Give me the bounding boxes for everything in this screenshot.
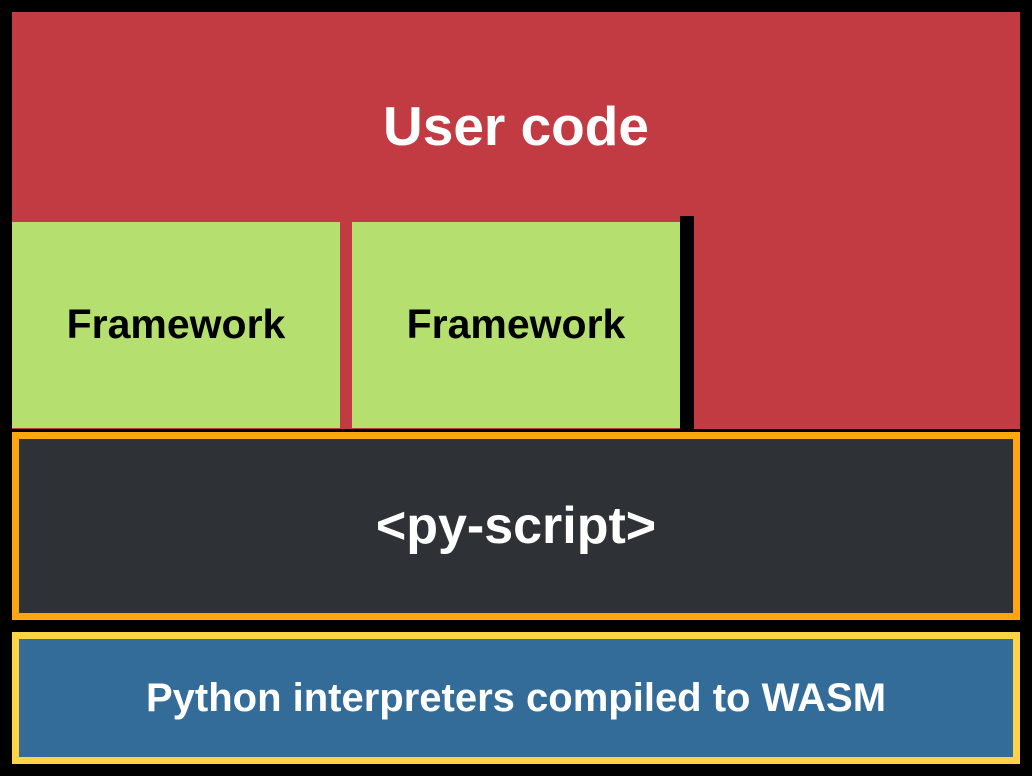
- layer-framework-2-label: Framework: [407, 303, 626, 346]
- layer-framework-1: Framework: [12, 222, 340, 428]
- layer-py-script-label: <py-script>: [376, 499, 656, 554]
- layer-py-script: <py-script>: [12, 432, 1020, 620]
- diagram-canvas: User code Framework Framework <py-script…: [0, 0, 1032, 776]
- layer-python-interpreters: Python interpreters compiled to WASM: [12, 632, 1020, 764]
- layer-python-interpreters-label: Python interpreters compiled to WASM: [146, 677, 886, 719]
- layer-user-code-label: User code: [383, 98, 649, 156]
- framework-row-gutter: [680, 216, 694, 429]
- layer-framework-1-label: Framework: [67, 303, 286, 346]
- layer-framework-2: Framework: [352, 222, 680, 428]
